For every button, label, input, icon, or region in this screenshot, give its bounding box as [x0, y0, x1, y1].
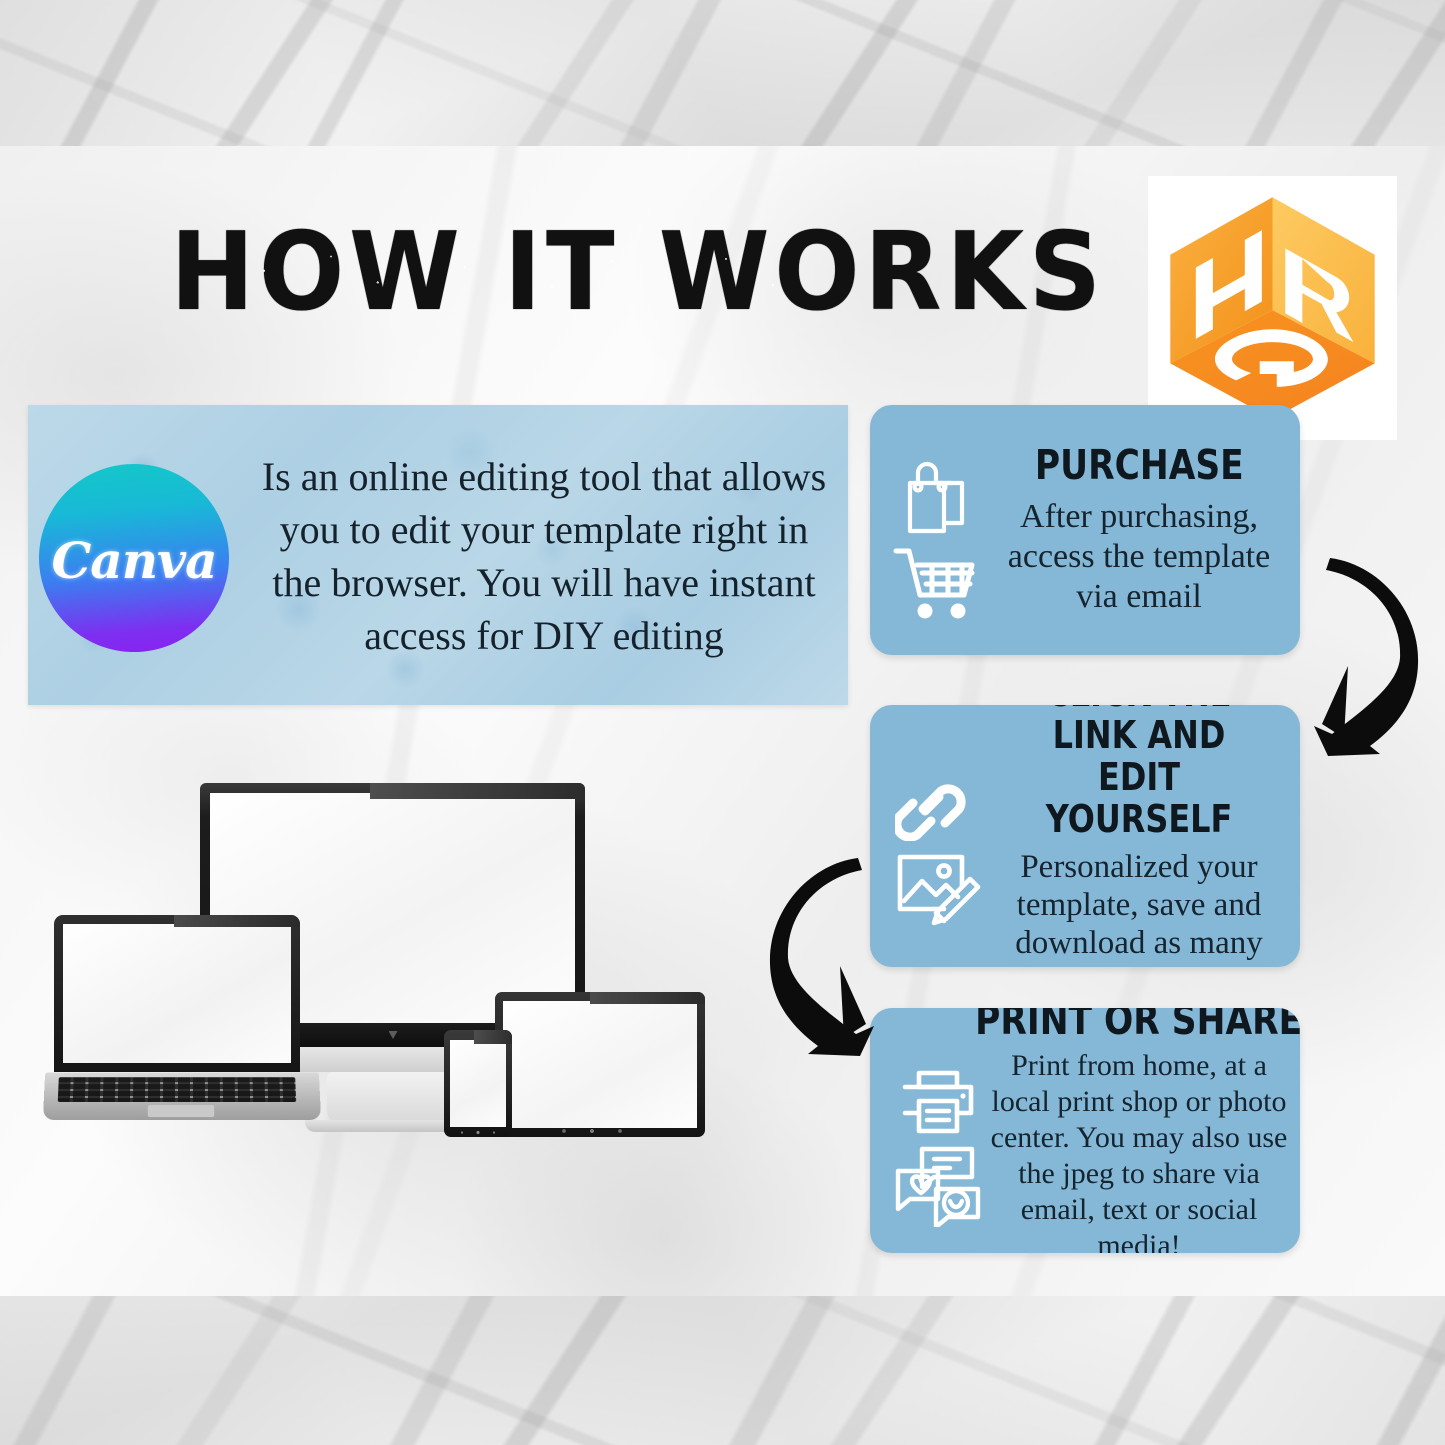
phone-buttons [458, 1130, 498, 1135]
step-icons-purchase [884, 415, 992, 655]
step-card-print-share[interactable]: PRINT OR SHARE Print from home, at a loc… [870, 1008, 1300, 1253]
laptop-trackpad [148, 1105, 214, 1117]
canva-logo-label: Canva [52, 531, 217, 590]
top-texture-band [0, 0, 1445, 146]
social-share-icon [892, 1143, 984, 1227]
step-heading-print-share: PRINT OR SHARE [976, 1008, 1300, 1042]
tablet-buttons [557, 1128, 627, 1134]
hrg-logo [1148, 176, 1397, 440]
laptop [44, 915, 320, 1133]
step-heading-click-edit: CLICK THE LINK AND EDIT YOURSELF [1012, 705, 1266, 840]
shopping-bag-icon [896, 457, 980, 537]
monitor-stand [327, 1072, 457, 1124]
curved-arrow-down-left-icon [1308, 548, 1440, 763]
step-icons-click-edit [884, 715, 992, 967]
bottom-texture-band [0, 1296, 1445, 1445]
laptop-screen [63, 924, 291, 1063]
chain-link-icon [895, 763, 981, 841]
step-description-click-edit: Personalized your template, save and dow… [988, 848, 1290, 967]
printer-icon [895, 1055, 981, 1137]
hrg-cube-icon [1165, 193, 1380, 423]
tablet [495, 992, 705, 1137]
step-heading-purchase: PURCHASE [1035, 443, 1244, 487]
step-body-purchase: PURCHASE After purchasing, access the te… [988, 405, 1290, 655]
step-card-purchase[interactable]: PURCHASE After purchasing, access the te… [870, 405, 1300, 655]
smartphone [444, 1030, 512, 1137]
laptop-base [43, 1072, 321, 1120]
tablet-screen [503, 1001, 697, 1128]
step-description-print-share: Print from home, at a local print shop o… [988, 1048, 1290, 1254]
canva-info-panel: Canva Is an online editing tool that all… [28, 405, 848, 705]
step-icons-print-share [884, 1018, 992, 1253]
step-card-click-edit[interactable]: CLICK THE LINK AND EDIT YOURSELF Persona… [870, 705, 1300, 967]
step-description-purchase: After purchasing, access the template vi… [988, 497, 1290, 617]
infographic-canvas: HOW IT WORKS [0, 0, 1445, 1445]
crumpled-paper-texture-top [0, 0, 1445, 146]
laptop-keyboard [58, 1077, 296, 1102]
image-edit-icon [892, 847, 984, 929]
step-body-print-share: PRINT OR SHARE Print from home, at a loc… [988, 1008, 1290, 1253]
curved-arrow-down-left [1308, 548, 1440, 763]
step-body-click-edit: CLICK THE LINK AND EDIT YOURSELF Persona… [988, 705, 1290, 967]
device-mockup-group [30, 770, 775, 1170]
crumpled-paper-texture-bottom [0, 1296, 1445, 1445]
page-title: HOW IT WORKS [170, 214, 840, 332]
canva-description: Is an online editing tool that allows yo… [252, 415, 836, 697]
shopping-cart-icon [892, 543, 984, 623]
canva-logo-badge: Canva [39, 464, 229, 652]
phone-screen [450, 1040, 506, 1127]
